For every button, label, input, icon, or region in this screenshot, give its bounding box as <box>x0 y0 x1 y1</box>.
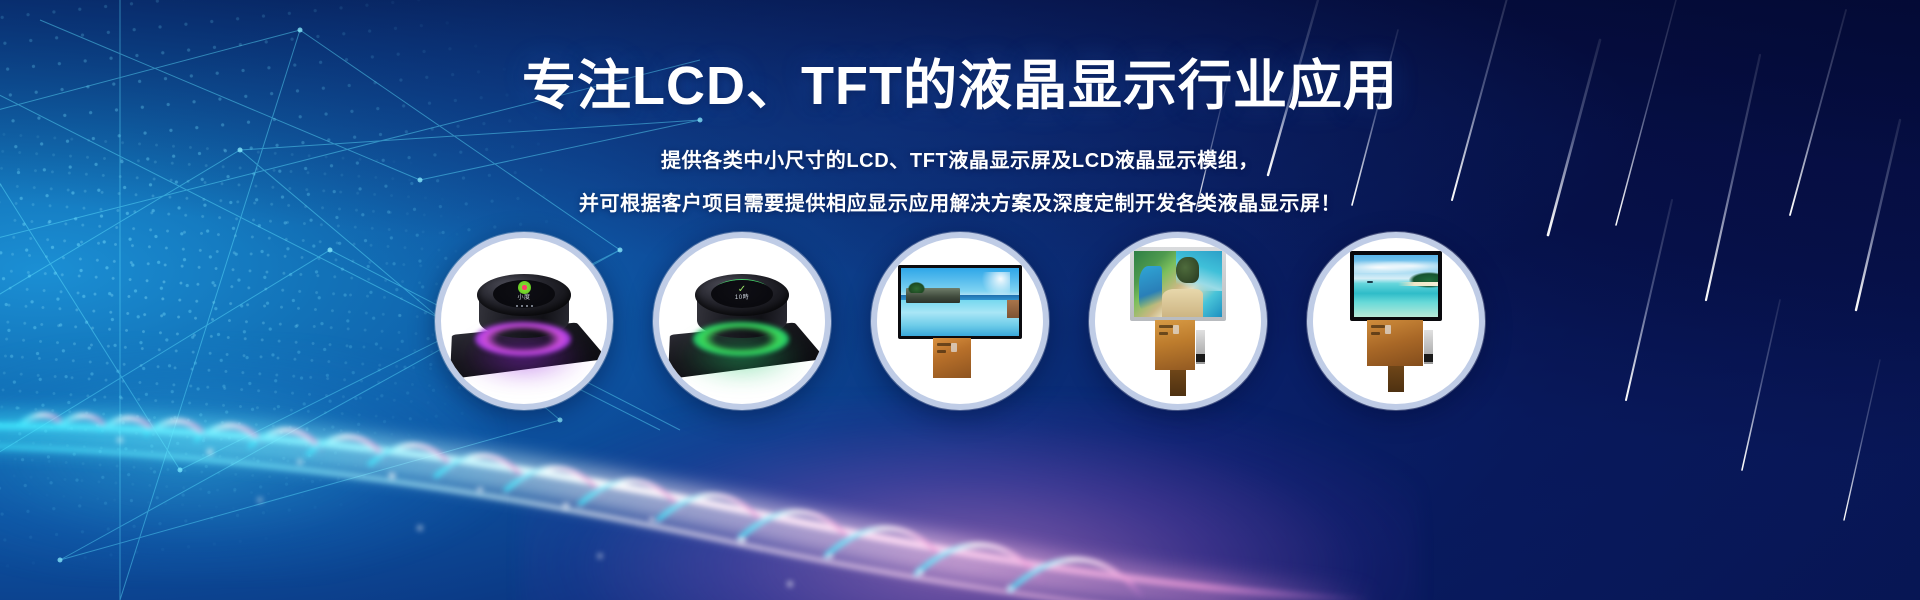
palm-tree <box>908 282 925 293</box>
fpc-tail <box>1170 370 1186 396</box>
sand-strip <box>1398 282 1438 286</box>
lcd-screen-tropical-beach <box>1354 255 1438 317</box>
product-image-tft-widescreen-pool <box>877 238 1043 404</box>
product-circle-smart-speaker-purple[interactable]: 小度 <box>435 232 613 410</box>
product-circle-tft-widescreen-pool[interactable] <box>871 232 1049 410</box>
fpc-tail <box>1388 366 1404 392</box>
product-circle-tft-4by3-coast[interactable] <box>1089 232 1267 410</box>
sand-beach <box>1162 289 1202 317</box>
rock-formation <box>1176 257 1199 283</box>
product-circle-row: 小度 ✓ 10時 <box>0 232 1920 410</box>
led-ring-green <box>693 322 789 356</box>
device-screen-label: 10時 <box>735 295 749 302</box>
banner-headline: 专注LCD、TFT的液晶显示行业应用 <box>0 56 1920 116</box>
fpc-ribbon-cable <box>1367 320 1423 366</box>
lcd-panel-black-bezel <box>1350 251 1442 321</box>
device-screen-label: 小度 <box>517 295 530 302</box>
product-image-smart-speaker-purple: 小度 <box>449 246 599 396</box>
product-image-tft-4by3-beach <box>1313 238 1479 404</box>
fpc-ribbon-cable <box>1155 320 1195 370</box>
device-round-display: ✓ 10時 <box>711 280 773 308</box>
hero-banner: 专注LCD、TFT的液晶显示行业应用 提供各类中小尺寸的LCD、TFT液晶显示屏… <box>0 0 1920 600</box>
product-circle-tft-4by3-beach[interactable] <box>1307 232 1485 410</box>
device-status-dots <box>516 305 533 307</box>
device-screen-glyph: ✓ <box>738 285 746 295</box>
fpc-connector <box>1424 330 1433 364</box>
led-ring-purple <box>475 322 571 356</box>
lcd-panel-black-bezel <box>898 265 1022 339</box>
fpc-connector <box>1196 330 1205 364</box>
lcd-panel-silver-bezel <box>1130 247 1226 321</box>
sun-glow <box>979 272 1010 295</box>
product-image-smart-speaker-green: ✓ 10時 <box>667 246 817 396</box>
banner-text-block: 专注LCD、TFT的液晶显示行业应用 提供各类中小尺寸的LCD、TFT液晶显示屏… <box>0 56 1920 224</box>
flower-icon <box>518 281 531 294</box>
device-round-display: 小度 <box>493 280 555 308</box>
banner-subtitle-line-1: 提供各类中小尺寸的LCD、TFT液晶显示屏及LCD液晶显示模组， <box>0 142 1920 181</box>
product-circle-smart-speaker-green[interactable]: ✓ 10時 <box>653 232 831 410</box>
boat-shape <box>1367 281 1373 283</box>
product-image-tft-4by3-coast <box>1095 238 1261 404</box>
lcd-screen-coastline <box>1134 251 1222 317</box>
fpc-ribbon-cable <box>933 338 971 378</box>
lcd-screen-infinity-pool <box>901 268 1019 336</box>
deck-shape <box>1007 300 1019 318</box>
banner-subtitle-line-2: 并可根据客户项目需要提供相应显示应用解决方案及深度定制开发各类液晶显示屏！ <box>0 185 1920 224</box>
